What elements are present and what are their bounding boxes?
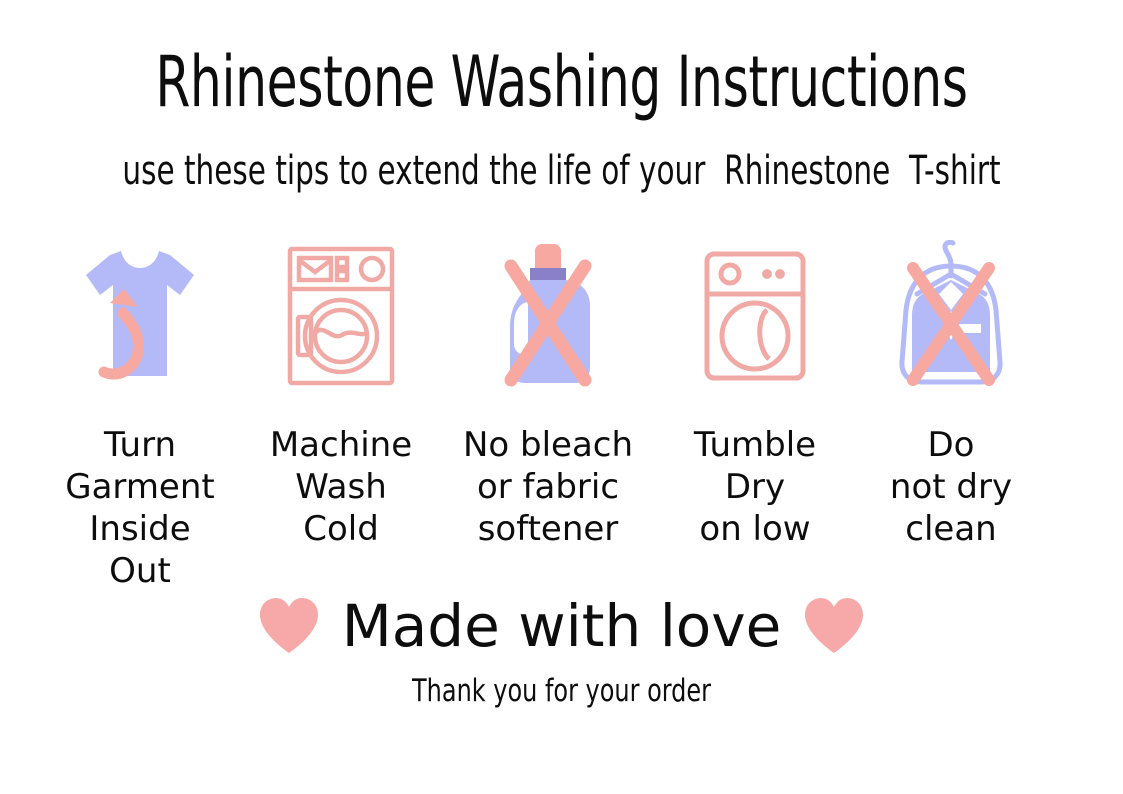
care-instructions-card: Rhinestone Washing Instructions use thes… xyxy=(0,0,1123,794)
made-with-love-row: Made with love xyxy=(0,592,1123,660)
instruction-label-row: Turn Garment Inside Out Machine Wash Col… xyxy=(0,424,1123,594)
instruction-icon-cell-5 xyxy=(861,236,1041,396)
heart-icon xyxy=(258,597,320,655)
instruction-icon-cell-3 xyxy=(458,236,638,396)
tumble-dryer-icon xyxy=(699,246,811,386)
no-bleach-bottle-icon xyxy=(488,240,608,392)
tshirt-inside-out-icon xyxy=(80,241,200,391)
thank-you-text: Thank you for your order xyxy=(79,672,1045,710)
heart-icon xyxy=(803,597,865,655)
instruction-icon-cell-4 xyxy=(665,236,845,396)
instruction-label-2: Machine Wash Cold xyxy=(231,424,451,550)
page-subtitle: use these tips to extend the life of you… xyxy=(101,148,1022,194)
instruction-icon-cell-1 xyxy=(50,236,230,396)
made-with-love-text: Made with love xyxy=(342,592,782,660)
no-dry-clean-icon xyxy=(887,240,1015,392)
instruction-icon-cell-2 xyxy=(251,236,431,396)
page-title: Rhinestone Washing Instructions xyxy=(112,44,1010,120)
instruction-icon-row xyxy=(0,236,1123,396)
instruction-label-5: Do not dry clean xyxy=(841,424,1061,550)
instruction-label-4: Tumble Dry on low xyxy=(645,424,865,550)
instruction-label-1: Turn Garment Inside Out xyxy=(30,424,250,592)
washing-machine-icon xyxy=(282,241,400,391)
instruction-label-3: No bleach or fabric softener xyxy=(438,424,658,550)
